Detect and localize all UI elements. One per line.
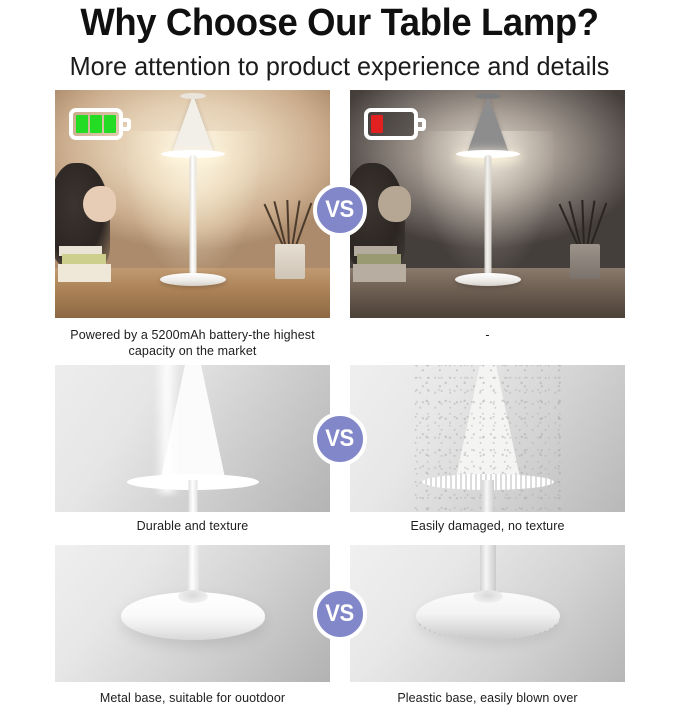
image-panel-left — [55, 90, 330, 318]
hand — [378, 186, 411, 222]
plastic-base-scene — [350, 545, 625, 682]
table-lamp — [443, 95, 533, 287]
row-images: VS — [55, 90, 625, 318]
reed-diffuser — [562, 202, 609, 280]
metal-base-scene — [55, 545, 330, 682]
caption-right: Pleastic base, easily blown over — [350, 690, 625, 709]
battery-full-green-icon — [69, 108, 131, 140]
diffuser-jar — [570, 244, 600, 280]
shade-body — [159, 365, 227, 487]
shade-body — [454, 365, 522, 487]
lamp-stem — [189, 155, 196, 279]
image-panel-left — [55, 365, 330, 512]
caption-left: Durable and texture — [55, 518, 330, 545]
vs-label: VS — [326, 600, 355, 628]
lamp-shade-rough-scene — [350, 365, 625, 512]
diffuser-jar — [275, 244, 305, 280]
battery-low-red-icon — [364, 108, 426, 140]
row-captions: Metal base, suitable for ouotdoor Pleast… — [55, 682, 625, 709]
image-panel-left — [55, 545, 330, 682]
comparison-row-battery: VS Powered by a 5200mAh battery-the high… — [55, 90, 625, 365]
caption-right: - — [350, 327, 625, 365]
image-panel-right — [350, 90, 625, 318]
books-stack — [350, 241, 422, 282]
image-panel-right — [350, 545, 625, 682]
header: Why Choose Our Table Lamp? More attentio… — [0, 0, 679, 82]
vs-label: VS — [326, 196, 355, 224]
comparison-rows: VS Powered by a 5200mAh battery-the high… — [55, 90, 625, 709]
base-neck-joint — [473, 590, 503, 603]
vs-badge: VS — [313, 183, 367, 237]
comparison-row-shade-texture: VS Durable and texture Easily damaged, n… — [55, 365, 625, 545]
caption-left: Metal base, suitable for ouotdoor — [55, 690, 330, 709]
row-images: VS — [55, 545, 625, 682]
books-stack — [55, 241, 127, 282]
comparison-row-base-material: VS Metal base, suitable for ouotdoor Ple… — [55, 545, 625, 709]
page-title: Why Choose Our Table Lamp? — [14, 2, 666, 44]
reed-diffuser — [267, 202, 314, 280]
lamp-shade-smooth-scene — [55, 365, 330, 512]
row-captions: Powered by a 5200mAh battery-the highest… — [55, 318, 625, 365]
lamp-stem — [188, 480, 197, 512]
hand — [83, 186, 116, 222]
row-captions: Durable and texture Easily damaged, no t… — [55, 512, 625, 545]
lamp-shade — [467, 95, 509, 153]
vs-badge: VS — [313, 587, 367, 641]
vs-badge: VS — [313, 412, 367, 466]
vs-label: VS — [326, 425, 355, 453]
lamp-stem — [482, 480, 494, 512]
row-images: VS — [55, 365, 625, 512]
lamp-shade-top — [475, 93, 501, 99]
lamp-shade-top — [180, 93, 206, 99]
page-subtitle: More attention to product experience and… — [10, 50, 669, 82]
table-lamp — [148, 95, 238, 287]
caption-left: Powered by a 5200mAh battery-the highest… — [55, 327, 330, 365]
image-panel-right — [350, 365, 625, 512]
base-neck-joint — [178, 590, 208, 603]
lamp-base — [455, 273, 521, 286]
caption-right: Easily damaged, no texture — [350, 518, 625, 545]
product-comparison-infographic: Why Choose Our Table Lamp? More attentio… — [0, 0, 679, 709]
lamp-stem — [484, 155, 491, 279]
lamp-base — [160, 273, 226, 286]
lamp-shade — [172, 95, 214, 153]
